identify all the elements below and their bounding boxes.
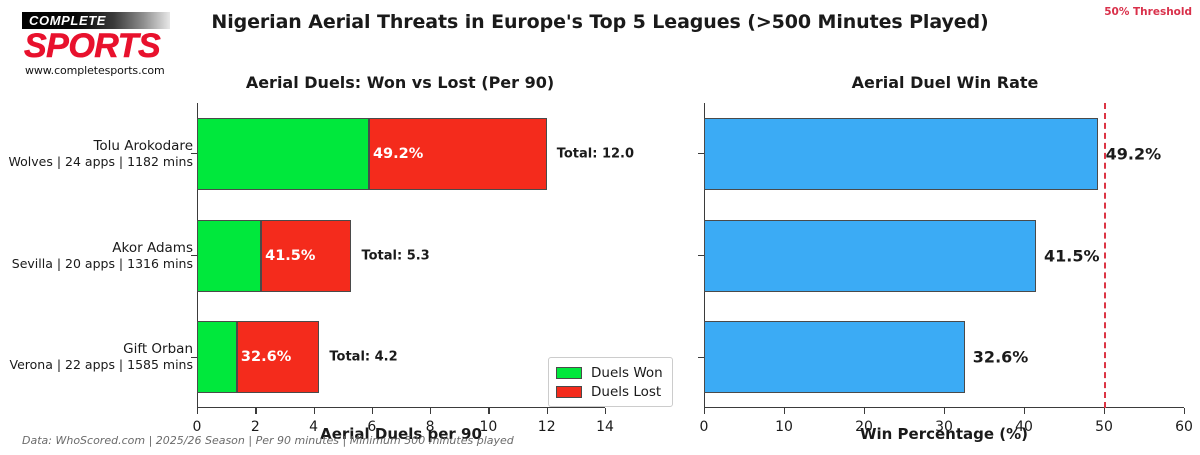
right-chart-title: Aerial Duel Win Rate	[700, 73, 1190, 92]
player-axis-label: Gift OrbanVerona | 22 apps | 1585 mins	[10, 341, 193, 373]
x-tick	[784, 408, 785, 414]
legend-label-duels-won: Duels Won	[591, 365, 663, 381]
x-tick	[430, 408, 431, 414]
player-name: Gift Orban	[10, 341, 193, 357]
legend-swatch-duels-lost	[556, 386, 582, 398]
logo-sports-text: SPORTS	[24, 31, 174, 61]
left-chart-title: Aerial Duels: Won vs Lost (Per 90)	[190, 73, 610, 92]
x-tick	[372, 408, 373, 414]
player-name: Akor Adams	[12, 240, 193, 256]
x-tick	[547, 408, 548, 414]
bar-duels-won	[197, 321, 237, 393]
x-tick	[1104, 408, 1105, 414]
win-rate-value-label: 49.2%	[1106, 144, 1162, 163]
chart-legend: Duels Won Duels Lost	[548, 357, 673, 407]
source-footnote: Data: WhoScored.com | 2025/26 Season | P…	[22, 434, 514, 447]
x-tick	[605, 408, 606, 414]
win-pct-inline-label: 41.5%	[265, 248, 315, 264]
total-duels-label: Total: 12.0	[557, 146, 634, 161]
bar-win-rate	[704, 118, 1098, 190]
aerial-duels-chart: 0246810121449.2%Total: 12.041.5%Total: 5…	[197, 103, 605, 408]
x-axis-line	[197, 407, 605, 408]
x-tick	[197, 408, 198, 414]
threshold-annotation: 50% Threshold	[1104, 6, 1192, 18]
x-tick	[704, 408, 705, 414]
page-title: Nigerian Aerial Threats in Europe's Top …	[0, 11, 1200, 33]
x-tick	[864, 408, 865, 414]
win-rate-value-label: 41.5%	[1044, 246, 1100, 265]
player-axis-label: Tolu ArokodareWolves | 24 apps | 1182 mi…	[9, 138, 193, 170]
x-tick	[944, 408, 945, 414]
legend-item: Duels Lost	[556, 382, 663, 401]
legend-item: Duels Won	[556, 363, 663, 382]
player-meta: Verona | 22 apps | 1585 mins	[10, 357, 193, 373]
x-tick	[314, 408, 315, 414]
logo-website-url: www.completesports.com	[25, 64, 174, 77]
bar-win-rate	[704, 220, 1036, 292]
x-tick	[255, 408, 256, 414]
right-x-axis-label: Win Percentage (%)	[704, 425, 1184, 443]
legend-label-duels-lost: Duels Lost	[591, 384, 661, 400]
x-tick	[1184, 408, 1185, 414]
bar-duels-won	[197, 118, 369, 190]
player-meta: Sevilla | 20 apps | 1316 mins	[12, 256, 193, 272]
x-tick	[1024, 408, 1025, 414]
total-duels-label: Total: 5.3	[361, 248, 429, 263]
win-pct-inline-label: 49.2%	[373, 146, 423, 162]
legend-swatch-duels-won	[556, 367, 582, 379]
player-name: Tolu Arokodare	[9, 138, 193, 154]
player-meta: Wolves | 24 apps | 1182 mins	[9, 154, 193, 170]
win-pct-inline-label: 32.6%	[241, 349, 291, 365]
win-rate-value-label: 32.6%	[973, 348, 1029, 367]
bar-duels-won	[197, 220, 261, 292]
win-rate-chart: 010203040506049.2%41.5%32.6%	[704, 103, 1184, 408]
x-tick	[488, 408, 489, 414]
total-duels-label: Total: 4.2	[329, 350, 397, 365]
player-axis-label: Akor AdamsSevilla | 20 apps | 1316 mins	[12, 240, 193, 272]
bar-win-rate	[704, 321, 965, 393]
